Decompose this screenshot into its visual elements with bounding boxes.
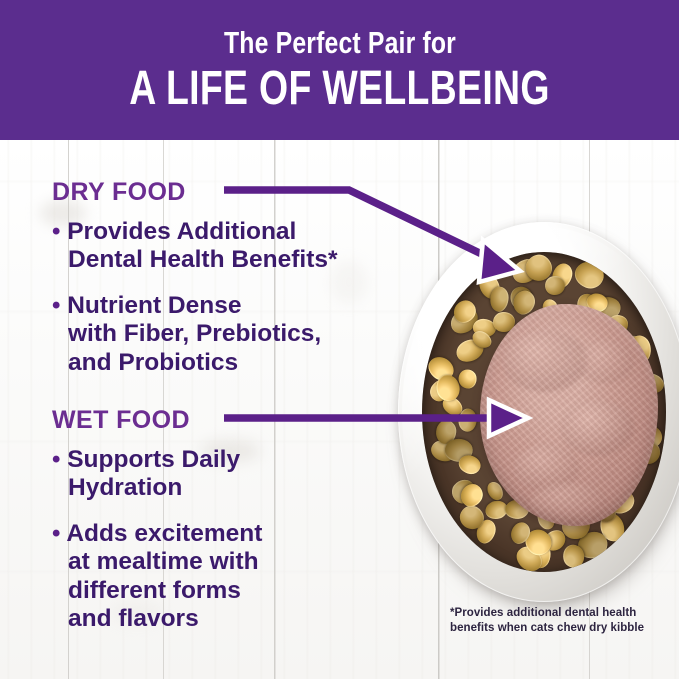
- header-title: A LIFE OF WELLBEING: [129, 65, 550, 113]
- header-banner: The Perfect Pair for A LIFE OF WELLBEING: [0, 0, 679, 140]
- wet-food-pate: [480, 304, 658, 526]
- bullet-line: at mealtime with: [68, 548, 259, 575]
- bullet-line: Provides Additional: [67, 218, 296, 245]
- bullet-line: Supports Daily: [67, 446, 240, 473]
- cat-food-bowl-photo: [398, 222, 679, 608]
- kibble-piece: [457, 368, 478, 390]
- section-heading-wet-food: WET FOOD: [52, 408, 190, 433]
- kibble-piece: [458, 408, 478, 433]
- bullet-item: • Adds excitement at mealtime with diffe…: [52, 520, 382, 634]
- bullet-line: Adds excitement: [66, 520, 262, 547]
- dry-food-bullets: • Provides Additional Dental Health Bene…: [52, 218, 382, 394]
- header-subtitle: The Perfect Pair for: [223, 27, 455, 58]
- bullet-line: Dental Health Benefits*: [68, 246, 338, 273]
- bullet-line: Hydration: [68, 474, 182, 501]
- bullet-line: with Fiber, Prebiotics,: [68, 320, 321, 347]
- bullet-line: and Probiotics: [68, 349, 238, 376]
- kibble-piece: [489, 286, 510, 312]
- kibble-piece: [571, 258, 607, 293]
- infographic-canvas: The Perfect Pair for A LIFE OF WELLBEING: [0, 0, 679, 679]
- bullet-line: Nutrient Dense: [67, 292, 241, 319]
- bullet-line: different forms: [68, 577, 241, 604]
- footnote: *Provides additional dental health benef…: [450, 606, 675, 637]
- bullet-item: • Nutrient Dense with Fiber, Prebiotics,…: [52, 292, 382, 377]
- bullet-dot: •: [52, 218, 60, 245]
- bullet-dot: •: [52, 446, 60, 473]
- bowl-interior: [422, 252, 666, 572]
- bullet-item: • Supports Daily Hydration: [52, 446, 382, 503]
- footnote-line: benefits when cats chew dry kibble: [450, 622, 644, 634]
- footnote-line: *Provides additional dental health: [450, 607, 636, 619]
- section-heading-dry-food: DRY FOOD: [52, 180, 186, 205]
- bullet-dot: •: [52, 292, 60, 319]
- wet-food-bullets: • Supports Daily Hydration • Adds excite…: [52, 446, 382, 650]
- kibble-piece: [457, 453, 483, 477]
- bullet-dot: •: [52, 520, 60, 547]
- copy-column: DRY FOOD • Provides Additional Dental He…: [0, 140, 420, 679]
- bullet-item: • Provides Additional Dental Health Bene…: [52, 218, 382, 275]
- bullet-line: and flavors: [68, 605, 199, 632]
